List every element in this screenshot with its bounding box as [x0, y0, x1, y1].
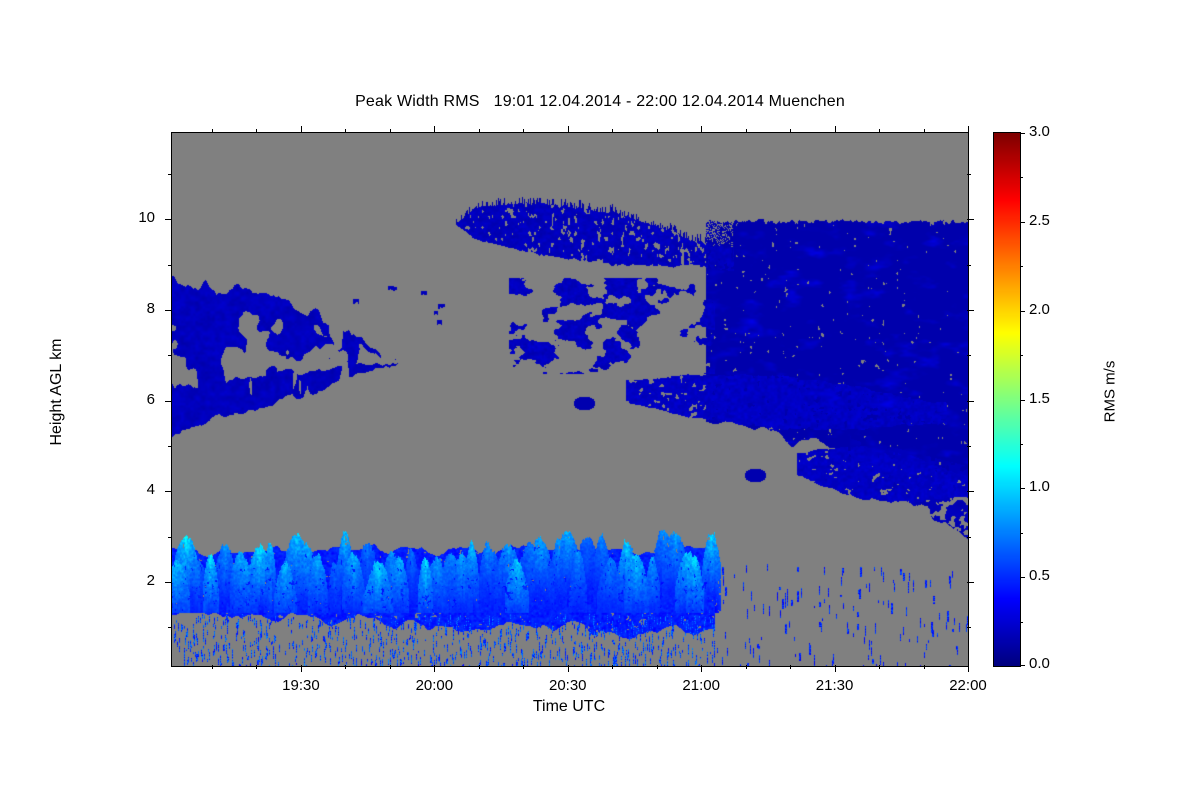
- y-tick-major-right: [967, 491, 974, 492]
- x-tick-minor: [746, 665, 747, 669]
- x-tick-label: 20:00: [389, 677, 479, 694]
- x-tick-minor-top: [924, 129, 925, 133]
- x-tick-minor-top: [879, 129, 880, 133]
- x-tick-minor: [657, 665, 658, 669]
- y-tick-minor-right: [967, 265, 971, 266]
- y-tick-label: 4: [101, 481, 155, 498]
- colorbar-tick-label: 2.5: [1029, 212, 1075, 229]
- x-tick-minor: [523, 665, 524, 669]
- y-tick-label: 6: [101, 391, 155, 408]
- colorbar-label: RMS m/s: [1102, 292, 1119, 492]
- x-tick-minor-top: [256, 129, 257, 133]
- y-tick-major: [165, 491, 172, 492]
- x-tick-minor-top: [523, 129, 524, 133]
- y-tick-minor: [168, 265, 172, 266]
- x-tick-major: [568, 665, 569, 672]
- x-tick-label: 21:00: [656, 677, 746, 694]
- y-tick-major-right: [967, 310, 974, 311]
- x-tick-minor: [879, 665, 880, 669]
- y-tick-major: [165, 401, 172, 402]
- x-tick-minor: [256, 665, 257, 669]
- x-tick-major-top: [434, 126, 435, 133]
- x-tick-major: [701, 665, 702, 672]
- y-tick-minor: [168, 355, 172, 356]
- y-tick-label: 10: [101, 209, 155, 226]
- y-tick-label: 2: [101, 572, 155, 589]
- y-tick-minor-right: [967, 627, 971, 628]
- x-tick-minor-top: [657, 129, 658, 133]
- x-tick-major-top: [301, 126, 302, 133]
- x-tick-minor: [345, 665, 346, 669]
- colorbar-tick-label: 1.0: [1029, 478, 1075, 495]
- x-tick-minor-top: [746, 129, 747, 133]
- x-tick-major: [301, 665, 302, 672]
- colorbar-tick-label: 3.0: [1029, 123, 1075, 140]
- y-tick-label: 8: [101, 300, 155, 317]
- x-tick-label: 21:30: [790, 677, 880, 694]
- x-tick-major-top: [568, 126, 569, 133]
- x-tick-minor-top: [790, 129, 791, 133]
- x-tick-minor: [790, 665, 791, 669]
- y-tick-minor: [168, 446, 172, 447]
- page-title: Peak Width RMS 19:01 12.04.2014 - 22:00 …: [0, 93, 1200, 111]
- colorbar-tick-label: 1.5: [1029, 390, 1075, 407]
- y-tick-minor-right: [967, 537, 971, 538]
- x-axis-label: Time UTC: [171, 698, 967, 716]
- x-tick-minor: [212, 665, 213, 669]
- y-tick-major: [165, 310, 172, 311]
- colorbar-tick-label: 2.0: [1029, 301, 1075, 318]
- x-tick-major: [968, 665, 969, 672]
- x-tick-minor-top: [479, 129, 480, 133]
- heatmap-plot-area: [171, 132, 969, 667]
- y-tick-minor: [168, 627, 172, 628]
- colorbar-tick-label: 0.5: [1029, 567, 1075, 584]
- heatmap-image: [172, 133, 968, 666]
- y-tick-major-right: [967, 219, 974, 220]
- x-tick-minor: [479, 665, 480, 669]
- y-tick-minor: [168, 537, 172, 538]
- colorbar-gradient: [994, 133, 1020, 666]
- x-tick-label: 20:30: [523, 677, 613, 694]
- x-tick-minor: [924, 665, 925, 669]
- y-axis-label: Height AGL km: [48, 282, 66, 502]
- colorbar: [993, 132, 1021, 667]
- y-tick-major: [165, 582, 172, 583]
- y-tick-minor-right: [967, 174, 971, 175]
- y-tick-major: [165, 219, 172, 220]
- x-tick-minor: [390, 665, 391, 669]
- x-tick-major: [434, 665, 435, 672]
- x-tick-major-top: [701, 126, 702, 133]
- x-tick-minor-top: [390, 129, 391, 133]
- colorbar-tick-label: 0.0: [1029, 655, 1075, 672]
- x-tick-minor-top: [345, 129, 346, 133]
- x-tick-major: [835, 665, 836, 672]
- y-tick-major-right: [967, 582, 974, 583]
- x-tick-minor-top: [212, 129, 213, 133]
- x-tick-major-top: [968, 126, 969, 133]
- x-tick-major-top: [835, 126, 836, 133]
- y-tick-major-right: [967, 401, 974, 402]
- figure-canvas: Peak Width RMS 19:01 12.04.2014 - 22:00 …: [0, 0, 1200, 800]
- x-tick-label: 22:00: [923, 677, 1013, 694]
- x-tick-minor: [612, 665, 613, 669]
- x-tick-minor-top: [612, 129, 613, 133]
- y-tick-minor-right: [967, 355, 971, 356]
- x-tick-label: 19:30: [256, 677, 346, 694]
- y-tick-minor-right: [967, 446, 971, 447]
- y-tick-minor: [168, 174, 172, 175]
